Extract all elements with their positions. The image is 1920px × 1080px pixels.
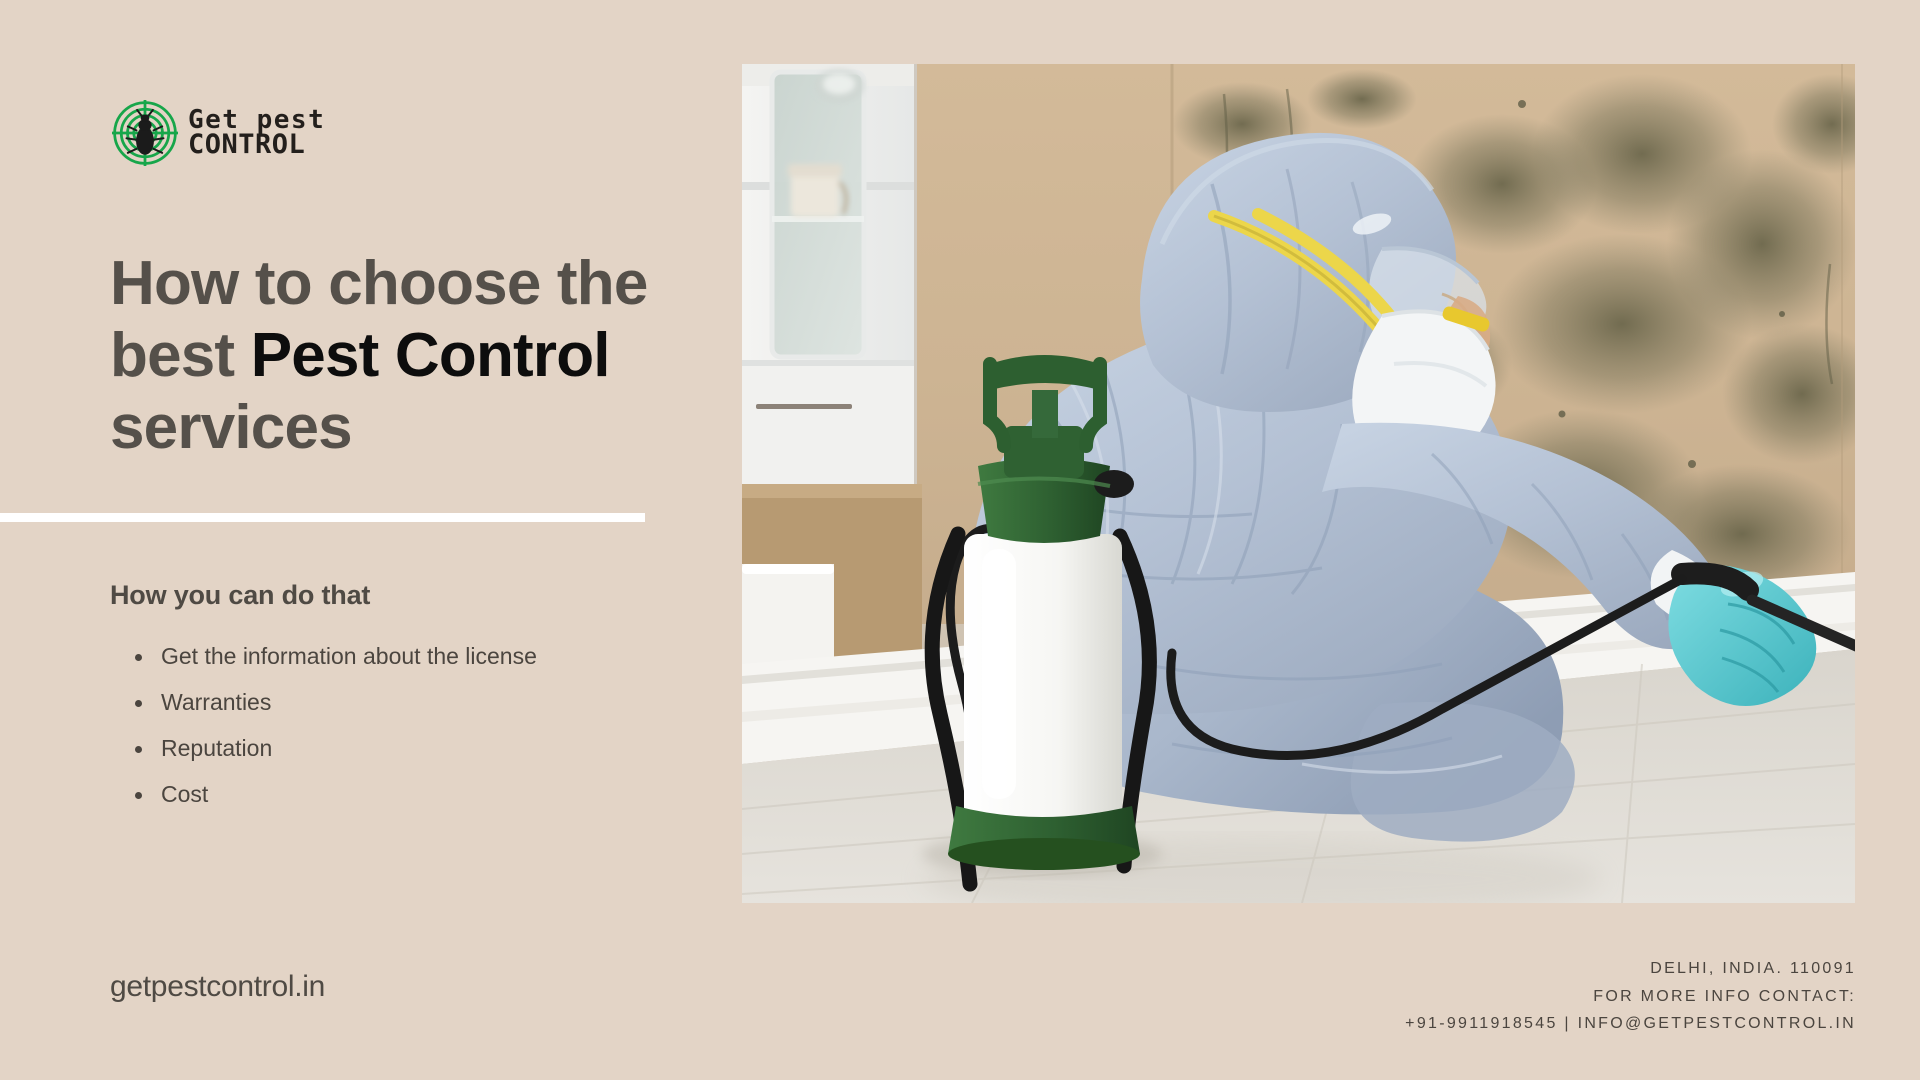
contact-phone-email[interactable]: +91-9911918545 | INFO@GETPESTCONTROL.IN <box>1405 1010 1856 1038</box>
logo-wordmark: Get pest CONTROL <box>188 109 325 158</box>
subheading: How you can do that <box>110 580 370 611</box>
contact-block: DELHI, INDIA. 110091 FOR MORE INFO CONTA… <box>1405 955 1856 1038</box>
list-item: Cost <box>157 783 757 806</box>
hero-photo <box>742 64 1855 903</box>
page-title-emphasis: Pest Control <box>251 321 610 390</box>
list-item: Reputation <box>157 737 757 760</box>
contact-prompt: FOR MORE INFO CONTACT: <box>1405 983 1856 1011</box>
beetle-in-target-icon <box>112 100 178 166</box>
section-divider <box>0 513 645 522</box>
poster-slide: Get pest CONTROL How to choose the best … <box>0 0 1920 1080</box>
logo-wordmark-line2: CONTROL <box>188 133 325 158</box>
contact-address: DELHI, INDIA. 110091 <box>1405 955 1856 983</box>
page-title-part-2: services <box>110 393 352 462</box>
checklist: Get the information about the license Wa… <box>125 645 757 829</box>
page-title: How to choose the best Pest Control serv… <box>110 248 730 464</box>
list-item: Get the information about the license <box>157 645 757 668</box>
website-url[interactable]: getpestcontrol.in <box>110 970 325 1004</box>
kitchen-cabinet <box>742 64 914 494</box>
brand-logo[interactable]: Get pest CONTROL <box>112 100 325 166</box>
list-item: Warranties <box>157 691 757 714</box>
